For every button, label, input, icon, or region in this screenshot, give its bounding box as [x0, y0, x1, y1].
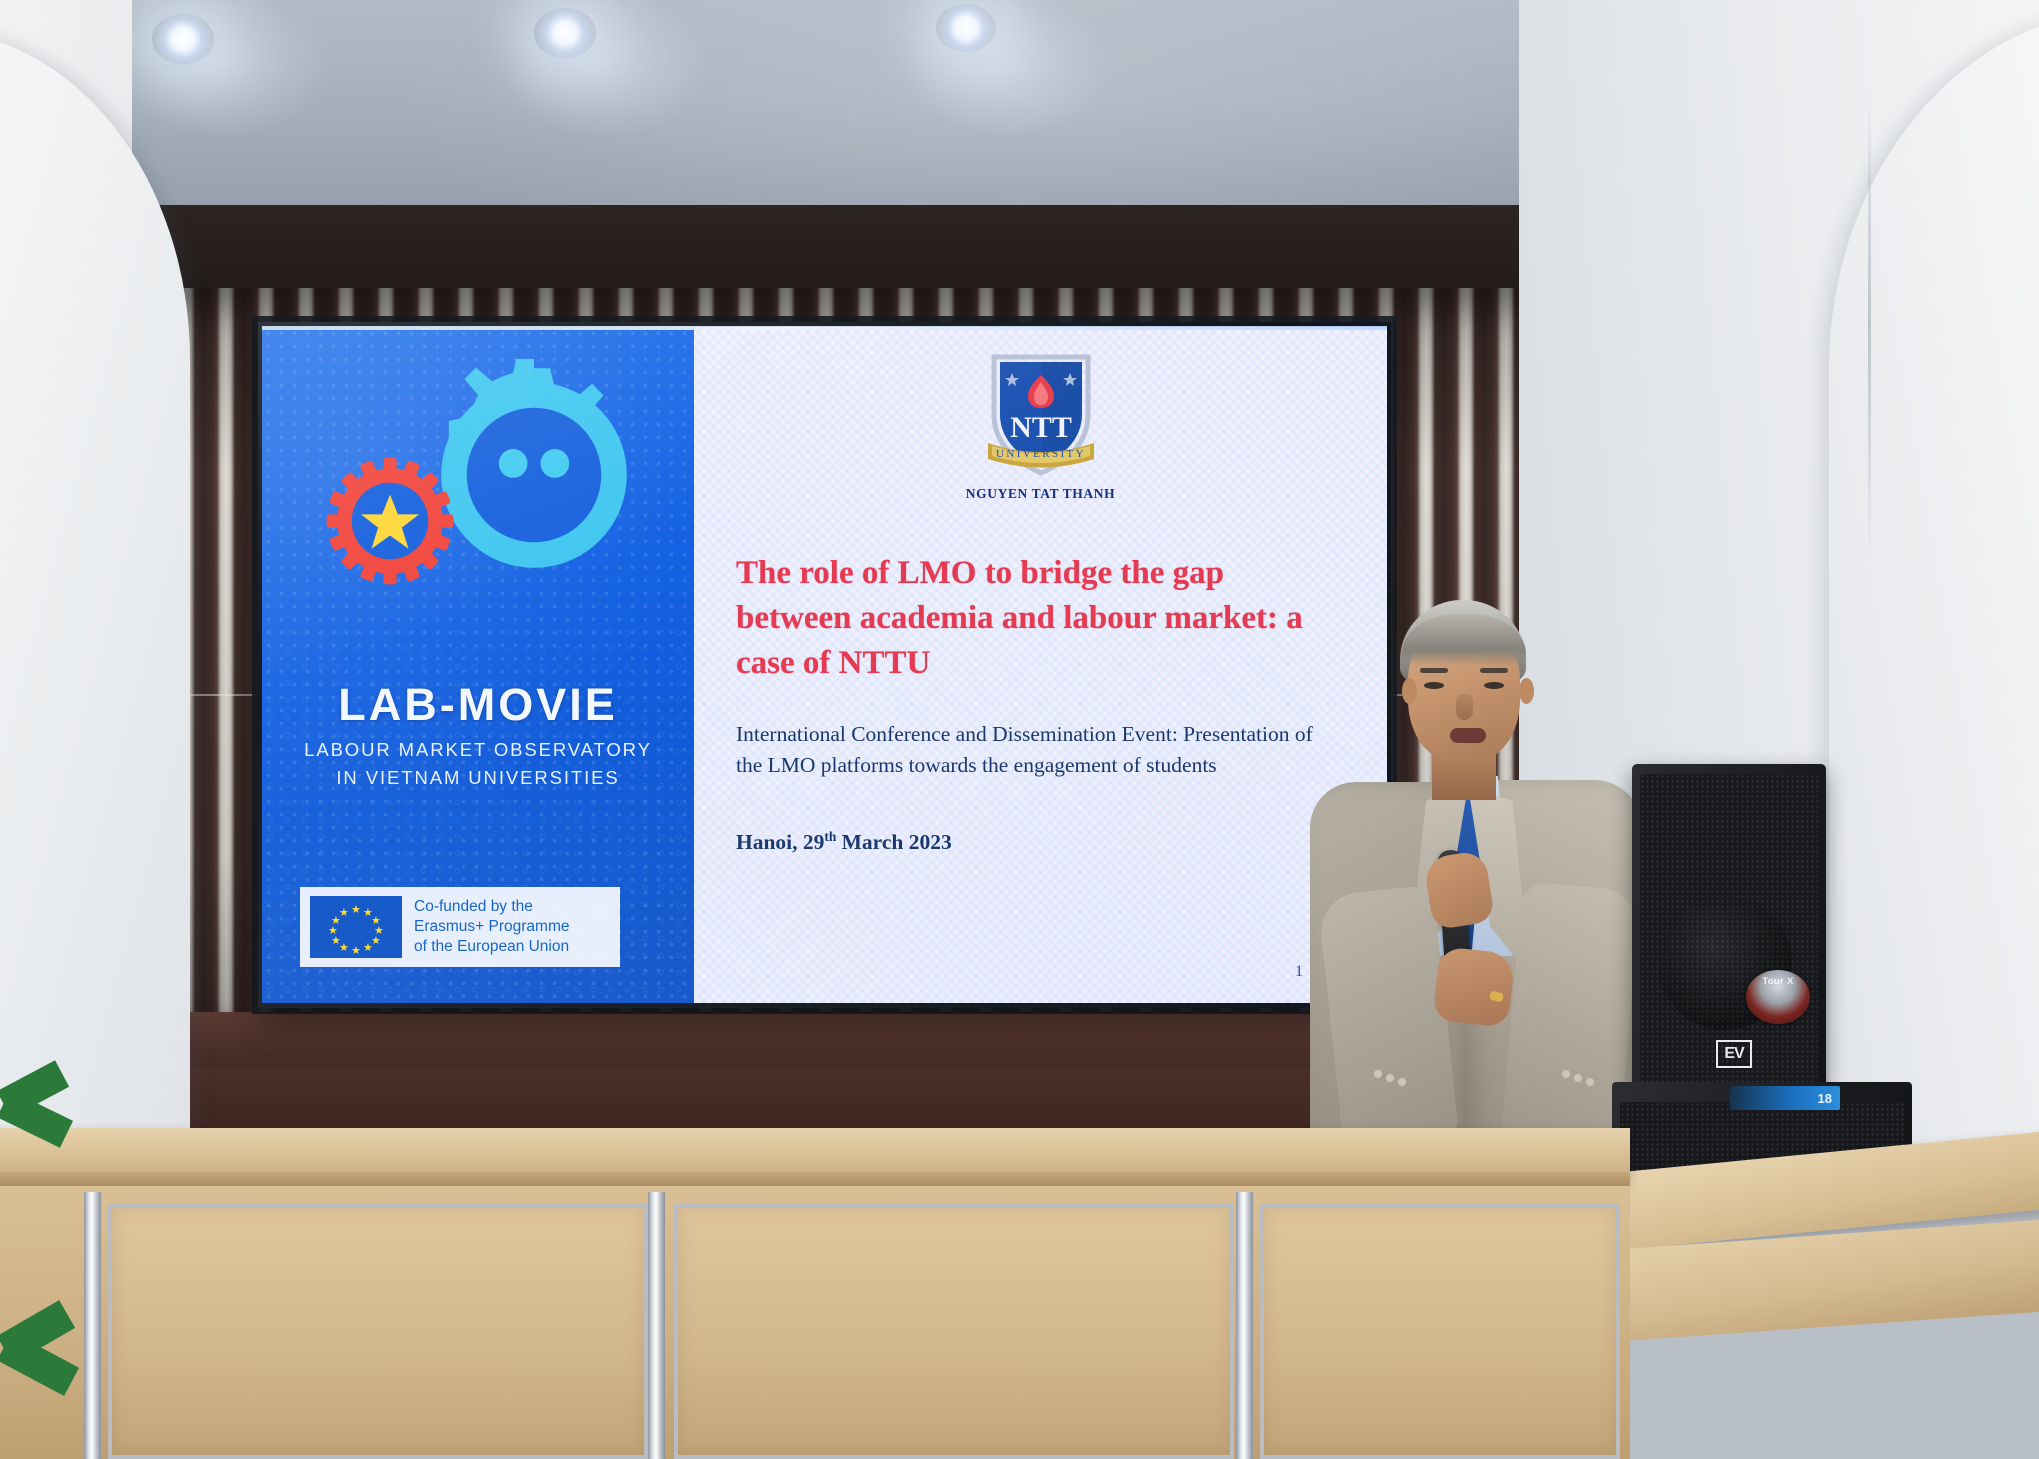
gear-small-star-icon [324, 455, 456, 587]
ntt-logo-caption: NGUYEN TAT THANH [961, 486, 1121, 502]
conference-photo: LAB-MOVIE LABOUR MARKET OBSERVATORY IN V… [0, 0, 2039, 1459]
name-card-1 [0, 0, 60, 63]
funding-text: Co-funded by the Erasmus+ Programme of t… [414, 897, 569, 956]
ear-right [1519, 678, 1534, 704]
eye-right [1484, 682, 1504, 689]
eye-left [1424, 682, 1444, 689]
ear-left [1402, 678, 1417, 704]
tour-x-badge: Tour X [1746, 970, 1810, 1024]
ceiling-downlight-3 [936, 4, 996, 52]
funding-line-1: Co-funded by the [414, 897, 569, 917]
erasmus-funding-badge: ★ ★ ★ ★ ★ ★ ★ ★ ★ ★ ★ ★ Co-funded [300, 887, 620, 967]
funding-line-2: Erasmus+ Programme [414, 917, 569, 937]
right-wall-seam [1868, 90, 1871, 560]
table-front-panel-1 [108, 1204, 648, 1459]
svg-text:UNIVERSITY: UNIVERSITY [996, 448, 1086, 460]
svg-text:NTT: NTT [1010, 411, 1072, 444]
eu-flag-icon: ★ ★ ★ ★ ★ ★ ★ ★ ★ ★ ★ ★ [310, 896, 402, 958]
eyebrow-left [1420, 668, 1448, 673]
nose [1456, 694, 1473, 720]
table-chrome-post-2 [648, 1192, 665, 1459]
eyebrow-right [1480, 668, 1508, 673]
ceiling-downlight-1 [152, 14, 214, 64]
table-chrome-post-1 [84, 1192, 101, 1459]
mouth [1450, 728, 1486, 743]
paper-stack-2 [0, 426, 151, 519]
funding-line-3: of the European Union [414, 937, 569, 957]
